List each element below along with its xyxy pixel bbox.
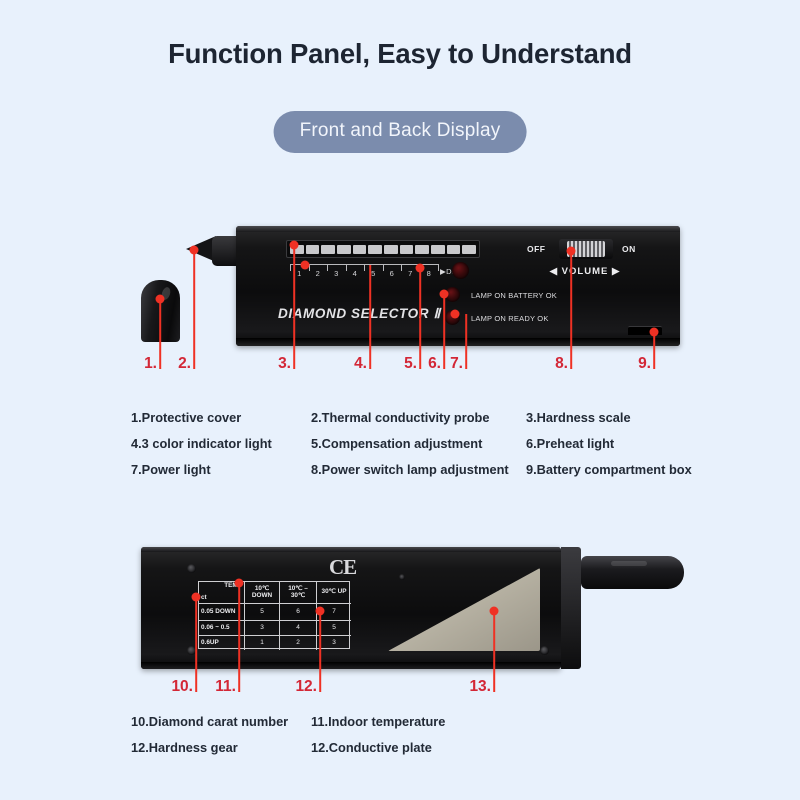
callout-dot [567,247,576,256]
led-segment [415,245,429,254]
legend-item: 7.Power light [131,462,311,477]
callout-dot [490,607,499,616]
legend-item: 11.Indoor temperature [311,714,800,729]
back-probe-body [581,556,684,589]
callout-dot [156,295,165,304]
corner-ct-label: ct [201,595,207,602]
callout-line [369,265,371,369]
subtitle-pill: Front and Back Display [274,111,527,153]
callout-dot [192,593,201,602]
legend-row: 12.Hardness gear12.Conductive plate [131,740,800,755]
callout-number: 2. [178,355,191,373]
legend-item: 12.Conductive plate [311,740,800,755]
back-end-cap [561,547,581,669]
legend-item: 1.Protective cover [131,410,311,425]
led-segment [306,245,320,254]
callout-number: 1. [144,355,157,373]
callout-line [195,597,197,692]
legend-item: 12.Hardness gear [131,740,311,755]
top-device-front-panel: 12345678 ▶DIA DIAMOND SELECTOR Ⅱ LAMP ON… [236,226,680,346]
led-bar-display [286,240,480,258]
callout-line [419,268,421,369]
legend-item: 3.Hardness scale [526,410,800,425]
callout-number: 9. [638,355,651,373]
conductive-plate-surface [388,568,540,651]
callout-line [570,251,572,369]
table-cell: 4 [280,621,317,636]
callout-number: 12. [295,678,317,696]
legend-row: 4.3 color indicator light5.Compensation … [131,436,800,451]
callout-dot [650,328,659,337]
page-title: Function Panel, Easy to Understand [0,38,800,70]
callout-number: 5. [404,355,417,373]
table-column-header: 10℃ DOWN [245,582,280,604]
led-segment [321,245,335,254]
callout-number: 8. [555,355,568,373]
legend-item: 10.Diamond carat number [131,714,311,729]
callout-line [159,299,161,369]
callout-dot [290,241,299,250]
scale-number: 5 [371,269,375,278]
hardness-scale: 12345678 ▶DIA [290,264,470,282]
legend-item: 8.Power switch lamp adjustment [311,462,526,477]
table-cell: 6 [280,604,317,621]
scale-number: 7 [408,269,412,278]
table-column-header: 10℃ – 30℃ [280,582,317,604]
led-segment [384,245,398,254]
screw-top-left [187,564,196,573]
led-segment [368,245,382,254]
ready-lamp-label: LAMP ON READY OK [471,314,549,323]
table-cell: 3 [317,636,351,650]
temperature-hardness-table: TEMPct10℃ DOWN10℃ – 30℃30℃ UP0.05 DOWN56… [198,581,350,649]
ce-mark: CE [329,555,356,580]
legend-row: 1.Protective cover2.Thermal conductivity… [131,410,800,425]
led-segment [337,245,351,254]
back-probe-highlight [611,561,647,566]
led-segment [353,245,367,254]
callout-line [238,583,240,692]
callout-line [443,294,445,369]
legend-item: 2.Thermal conductivity probe [311,410,526,425]
table-cell: 5 [245,604,280,621]
volume-label: ◀ VOLUME ▶ [535,266,635,277]
scale-number: 6 [390,269,394,278]
callout-dot [190,246,199,255]
led-segment [431,245,445,254]
callout-number: 6. [428,355,441,373]
led-segment [447,245,461,254]
dia-indicator-lamp[interactable] [452,262,469,279]
table-cell: 1 [245,636,280,650]
callout-number: 3. [278,355,291,373]
table-column-header: 30℃ UP [317,582,351,604]
switch-off-label: OFF [527,244,546,254]
callout-dot [440,290,449,299]
scale-number: 1 [297,269,301,278]
legend-row: 10.Diamond carat number11.Indoor tempera… [131,714,800,729]
screw-bottom-right [540,646,549,655]
callout-dot [316,607,325,616]
callout-number: 10. [171,678,193,696]
table-cell: 2 [280,636,317,650]
scale-number: 3 [334,269,338,278]
legend-item: 6.Preheat light [526,436,800,451]
callout-dot [301,261,310,270]
callout-dot [235,579,244,588]
scale-number: 4 [353,269,357,278]
table-cell: 5 [317,621,351,636]
table-cell: 3 [245,621,280,636]
callout-number: 4. [354,355,367,373]
callout-line [193,250,195,369]
legend-item: 5.Compensation adjustment [311,436,526,451]
brand-text: DIAMOND SELECTOR Ⅱ [278,306,441,322]
conductive-plate [388,568,540,651]
led-segment [462,245,476,254]
led-segment [400,245,414,254]
battery-lamp-label: LAMP ON BATTERY OK [471,291,557,300]
callout-line [293,245,295,369]
legend-row: 7.Power light8.Power switch lamp adjustm… [131,462,800,477]
switch-on-label: ON [622,244,636,254]
scale-number: 8 [427,269,431,278]
callout-number: 7. [450,355,463,373]
legend-bottom: 10.Diamond carat number11.Indoor tempera… [0,714,800,766]
callout-number: 11. [215,678,236,696]
scale-tick [438,264,439,271]
scale-number: 2 [316,269,320,278]
callout-dot [451,310,460,319]
callout-dot [416,264,425,273]
legend-item: 9.Battery compartment box [526,462,800,477]
callout-line [319,611,321,692]
callout-line [465,314,467,369]
callout-number: 13. [469,678,491,696]
callout-line [653,332,655,369]
legend-item: 4.3 color indicator light [131,436,311,451]
callout-line [493,611,495,692]
legend-top: 1.Protective cover2.Thermal conductivity… [0,410,800,488]
